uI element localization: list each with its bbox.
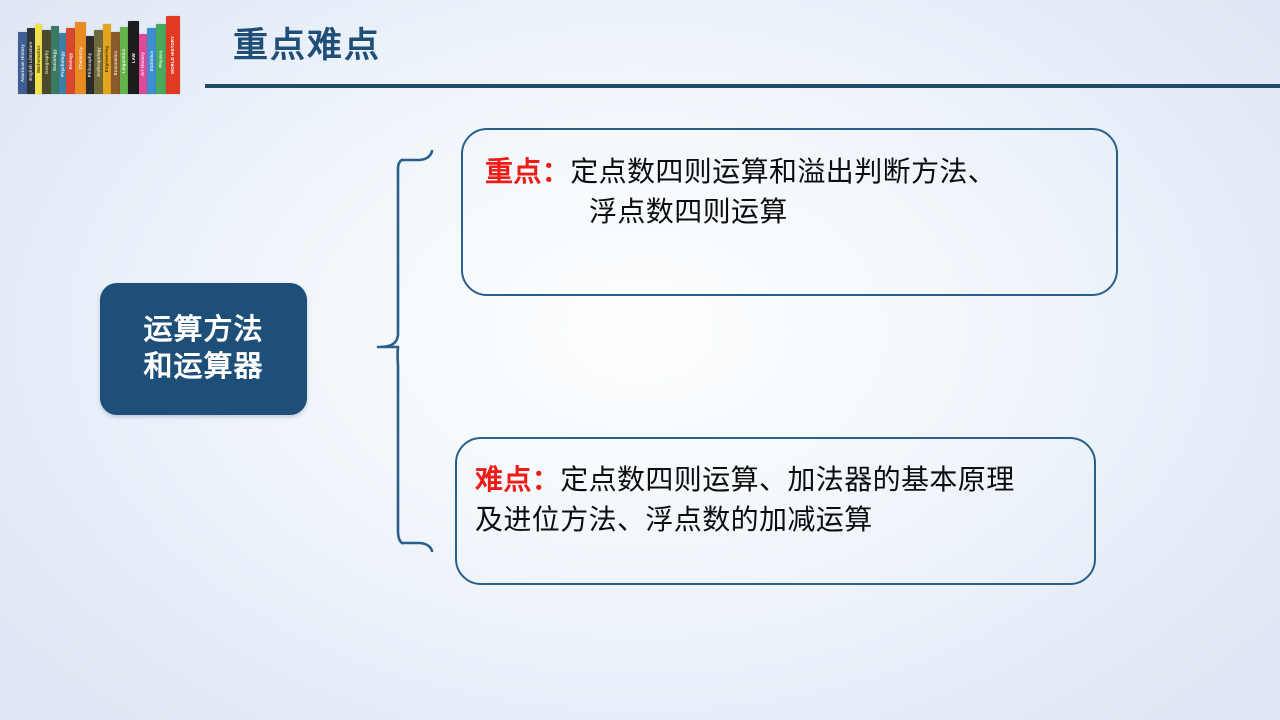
book-spine: American History: [18, 32, 27, 94]
difficult-points-box: 难点：定点数四则运算、加法器的基本原理 及进位方法、浮点数的加减运算: [455, 437, 1096, 585]
book-spine: LAW: [128, 21, 139, 94]
topic-line-2: 和运算器: [143, 349, 263, 386]
book-spine-label: Biology: [68, 53, 72, 70]
book-spine: Physics: [156, 24, 166, 94]
topic-box: 运算方法 和运算器: [100, 283, 307, 415]
book-spine-label: Sociology: [53, 49, 57, 71]
book-spine: Sociology: [51, 26, 59, 94]
book-spine: WORLD HISTORY: [166, 16, 180, 94]
book-spine-label: Linguistics: [122, 48, 126, 72]
difficult-points-text-1: 定点数四则运算、加法器的基本原理: [560, 464, 1014, 495]
book-spine: Psychology: [59, 33, 66, 94]
difficult-points-line-2: 及进位方法、浮点数的加减运算: [475, 500, 1072, 540]
difficult-points-text-2: 及进位方法、浮点数的加减运算: [475, 504, 873, 535]
key-points-text-2: 浮点数四则运算: [589, 196, 788, 227]
book-spine-label: Mathematics: [36, 45, 40, 73]
book-spine: English Literature: [27, 28, 35, 94]
book-spine-label: Philosophy: [88, 53, 92, 78]
book-spine: Mathematics: [35, 24, 42, 94]
book-spine: Philosophy: [86, 36, 94, 94]
curly-brace-icon: [340, 135, 450, 565]
header-divider: [205, 84, 1280, 88]
topic-line-1: 运算方法: [143, 312, 263, 349]
book-spine-label: Anthropology: [96, 47, 100, 77]
book-spine-label: Psychology: [60, 51, 64, 77]
key-points-box: 重点：定点数四则运算和溢出判断方法、 浮点数四则运算: [461, 128, 1118, 296]
difficult-points-line-1: 难点：定点数四则运算、加法器的基本原理: [475, 460, 1072, 500]
book-spine-label: LAW: [131, 53, 135, 63]
book-spine-label: Statistics: [149, 51, 153, 72]
book-spine: Statistics: [147, 28, 156, 94]
book-spine-label: Chemistry: [78, 47, 82, 69]
book-spine: Economics: [111, 32, 120, 94]
book-spines-image: American HistoryEnglish LiteratureMathem…: [18, 12, 203, 94]
book-spine: Art History: [139, 34, 147, 94]
book-spine: Engineering: [103, 24, 111, 94]
book-spine: Linguistics: [120, 27, 128, 94]
page-title: 重点难点: [233, 28, 381, 63]
book-spine: Anthropology: [94, 30, 103, 94]
book-spine-label: Geography: [44, 50, 48, 74]
book-spine-label: Physics: [159, 50, 163, 67]
key-points-line-1: 重点：定点数四则运算和溢出判断方法、: [485, 152, 1090, 192]
book-spine-label: American History: [20, 44, 24, 82]
book-spine-label: Engineering: [105, 46, 109, 72]
key-points-line-2: 浮点数四则运算: [485, 192, 1090, 232]
book-spine: Biology: [66, 28, 75, 94]
book-spine-label: WORLD HISTORY: [171, 36, 175, 74]
book-spine: Chemistry: [75, 22, 86, 94]
book-spine: Geography: [42, 30, 51, 94]
difficult-points-tag: 难点：: [475, 464, 560, 495]
key-points-text-1: 定点数四则运算和溢出判断方法、: [570, 156, 996, 187]
book-spine-label: Economics: [113, 51, 117, 75]
book-spine-label: English Literature: [29, 41, 33, 80]
book-spine-label: Art History: [141, 52, 145, 76]
key-points-tag: 重点：: [485, 156, 570, 187]
slide-canvas: American HistoryEnglish LiteratureMathem…: [0, 0, 1280, 720]
